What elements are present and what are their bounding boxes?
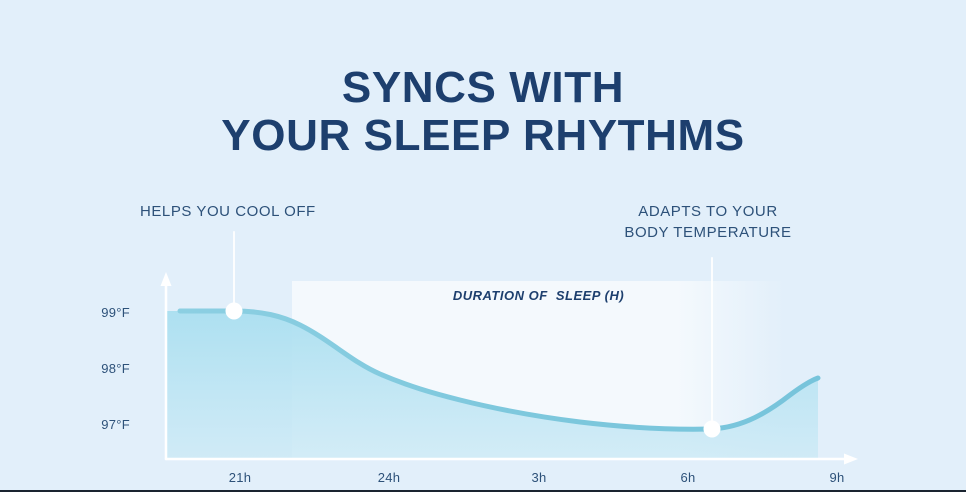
y-axis-tick-97f: 97°F <box>78 417 130 432</box>
y-axis-arrow-icon <box>161 272 172 286</box>
infographic-stage: SYNCS WITH YOUR SLEEP RHYTHMS <box>0 0 966 492</box>
data-point-marker-cool-off[interactable] <box>226 303 243 320</box>
x-axis-arrow-icon <box>844 454 858 465</box>
callout-right-line-1: ADAPTS TO YOUR <box>608 201 808 222</box>
data-point-marker-body-temperature[interactable] <box>704 421 721 438</box>
x-axis-tick-6h: 6h <box>658 470 718 485</box>
callout-left-line-1: HELPS YOU COOL OFF <box>140 201 316 222</box>
body-temperature-chart <box>0 0 966 492</box>
y-axis-tick-99f: 99°F <box>78 305 130 320</box>
x-axis-tick-3h: 3h <box>509 470 569 485</box>
x-axis-tick-9h: 9h <box>807 470 867 485</box>
y-axis-tick-98f: 98°F <box>78 361 130 376</box>
callout-right-line-2: BODY TEMPERATURE <box>608 222 808 243</box>
x-axis-tick-24h: 24h <box>359 470 419 485</box>
sleep-duration-label: DURATION OF SLEEP (H) <box>292 288 785 303</box>
callout-adapts-to-body-temperature: ADAPTS TO YOUR BODY TEMPERATURE <box>608 201 808 243</box>
x-axis-tick-21h: 21h <box>210 470 270 485</box>
callout-helps-you-cool-off: HELPS YOU COOL OFF <box>140 201 316 222</box>
